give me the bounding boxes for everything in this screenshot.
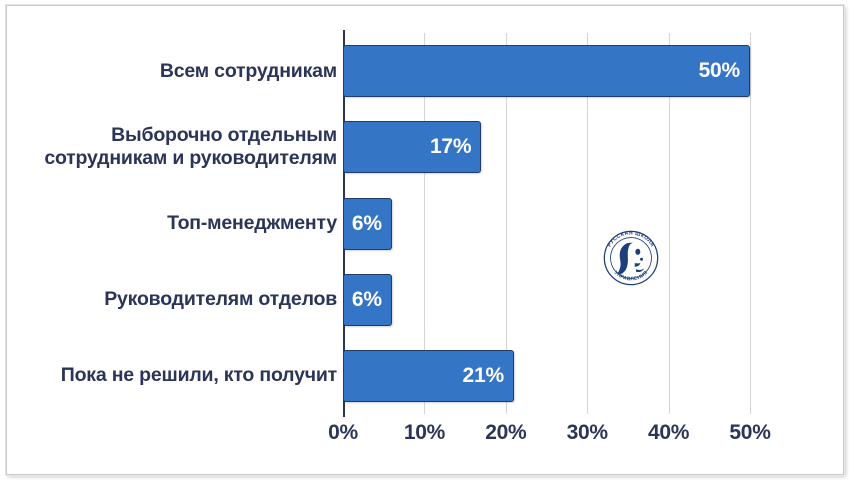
category-label: Выборочно отдельным сотрудникам и руково…: [19, 124, 337, 170]
bar-data-label: 21%: [463, 364, 513, 388]
bar[interactable]: 21%: [343, 350, 514, 402]
tick-label: 30%: [567, 421, 608, 445]
value-axis-tick-labels: 0%10%20%30%40%50%: [343, 421, 763, 453]
bar[interactable]: 6%: [343, 198, 392, 250]
tick-label: 10%: [404, 421, 445, 445]
russian-school-of-management-logo: РУССКАЯ ШКОЛА УПРАВЛЕНИЯ: [600, 227, 662, 289]
bar-row: 50%: [343, 45, 750, 97]
bar[interactable]: 17%: [343, 121, 481, 173]
tick-label: 50%: [729, 421, 770, 445]
bar-data-label: 17%: [430, 135, 480, 159]
bar-data-label: 6%: [352, 288, 391, 312]
gridline-50: [750, 33, 751, 414]
bar[interactable]: 50%: [343, 45, 750, 97]
category-label: Всем сотрудникам: [19, 60, 337, 83]
tick-label: 0%: [328, 421, 358, 445]
bar-row: 6%: [343, 198, 392, 250]
bar-row: 17%: [343, 121, 481, 173]
chart-frame: 50%17%6%6%21% Всем сотрудникамВыборочно …: [6, 5, 844, 475]
svg-text:УПРАВЛЕНИЯ: УПРАВЛЕНИЯ: [613, 270, 649, 283]
bar[interactable]: 6%: [343, 274, 392, 326]
bar-data-label: 50%: [699, 59, 749, 83]
bar-data-label: 6%: [352, 212, 391, 236]
bar-row: 6%: [343, 274, 392, 326]
bar-row: 21%: [343, 350, 514, 402]
tick-label: 20%: [485, 421, 526, 445]
svg-text:РУССКАЯ ШКОЛА: РУССКАЯ ШКОЛА: [607, 230, 656, 248]
category-axis-labels: Всем сотрудникамВыборочно отдельным сотр…: [15, 33, 337, 414]
category-label: Пока не решили, кто получит: [19, 364, 337, 387]
tick-label: 40%: [648, 421, 689, 445]
category-label: Руководителям отделов: [19, 288, 337, 311]
category-label: Топ-менеджменту: [19, 212, 337, 235]
